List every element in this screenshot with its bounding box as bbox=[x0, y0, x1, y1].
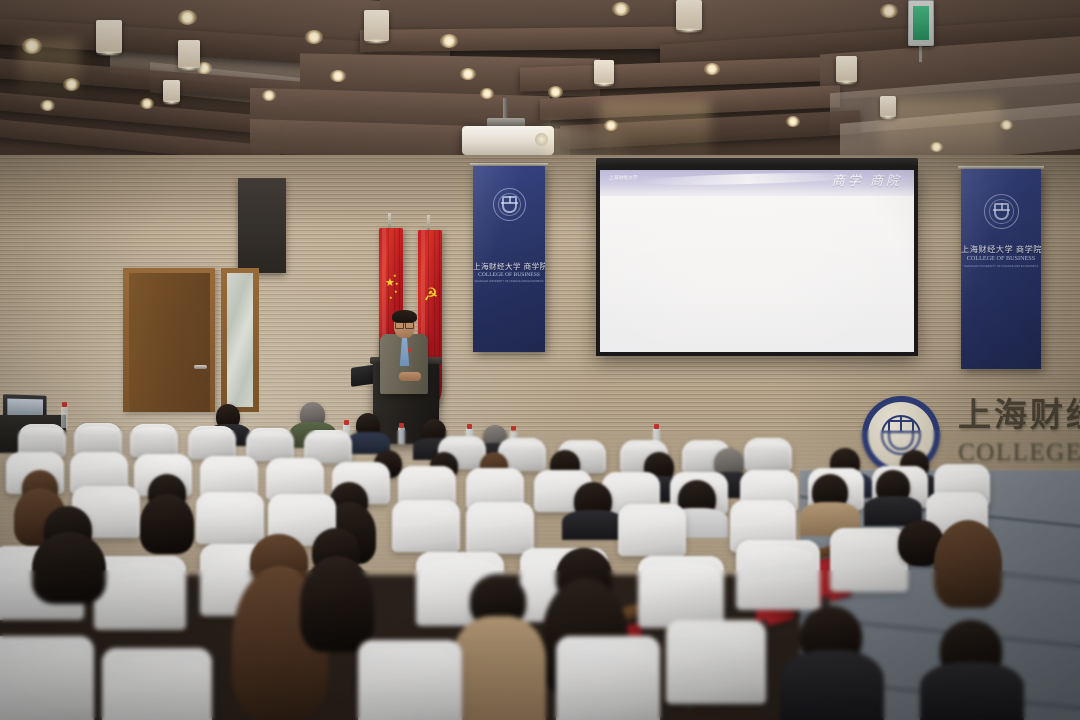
door-side-glass-panel bbox=[221, 268, 259, 412]
flag-star-icon: ★ bbox=[389, 296, 393, 300]
banner-left: 上海财经大学 商学院 COLLEGE OF BUSINESS SHANGHAI … bbox=[473, 166, 545, 352]
seat-back-cover bbox=[130, 424, 178, 457]
exit-sign-stem bbox=[919, 46, 922, 62]
wall-speaker-box bbox=[238, 178, 286, 273]
banner-left-english: COLLEGE OF BUSINESS bbox=[473, 272, 545, 278]
flag-star-icon: ★ bbox=[385, 278, 395, 289]
track-spotlight bbox=[163, 80, 180, 102]
banner-right: 上海财经大学 商学院 COLLEGE OF BUSINESS SHANGHAI … bbox=[961, 169, 1041, 369]
slide-logo-text: 上海财经大学 bbox=[609, 175, 638, 180]
track-spotlight bbox=[96, 20, 122, 53]
slide-calligraphy-text: 商学 商院 bbox=[832, 173, 902, 188]
seat-back-cover bbox=[744, 438, 792, 471]
banner-right-chinese: 上海财经大学 商学院 bbox=[961, 243, 1041, 255]
lecture-hall-photo: 上海财经大学 商学院 COLLEGE OF BUSINESS SHANGHAI … bbox=[0, 0, 1080, 720]
seat-back-cover bbox=[736, 540, 820, 610]
ceiling-downlight bbox=[178, 10, 197, 25]
flag-star-icon: ★ bbox=[393, 274, 397, 278]
college-emblem-icon bbox=[493, 188, 526, 221]
ceiling-projector bbox=[462, 126, 554, 155]
ceiling-downlight bbox=[262, 90, 276, 101]
seat-back-cover bbox=[392, 500, 460, 552]
banner-right-english: COLLEGE OF BUSINESS bbox=[961, 255, 1041, 262]
seat-back-cover bbox=[830, 528, 908, 592]
ceiling-downlight bbox=[63, 78, 80, 91]
lapel-pin-icon bbox=[408, 348, 412, 352]
attendee-hair bbox=[32, 532, 106, 604]
slide-header-band: 上海财经大学 商学 商院 bbox=[600, 170, 914, 196]
seat-back-cover bbox=[102, 648, 212, 720]
ceiling-downlight bbox=[612, 2, 630, 16]
attendee-shoulders bbox=[562, 510, 624, 540]
speaker-hands bbox=[399, 372, 421, 381]
ceiling-downlight bbox=[305, 30, 323, 44]
ceiling-downlight bbox=[22, 38, 42, 54]
attendee-hair bbox=[300, 556, 374, 652]
projection-screen: 上海财经大学 商学 商院 bbox=[596, 166, 918, 356]
ceiling-downlight bbox=[460, 68, 476, 80]
track-spotlight bbox=[880, 96, 896, 117]
track-spotlight bbox=[836, 56, 857, 82]
ceiling-downlight bbox=[140, 98, 154, 109]
ceiling-downlight bbox=[604, 120, 618, 131]
ceiling-downlight bbox=[40, 100, 55, 111]
banner-left-subtitle: SHANGHAI UNIVERSITY OF FINANCE AND ECONO… bbox=[473, 280, 545, 283]
door-handle-icon[interactable] bbox=[194, 365, 207, 369]
attendee-shoulders bbox=[780, 650, 884, 720]
party-emblem-icon: ☭ bbox=[422, 285, 439, 304]
flag-star-icon: ★ bbox=[394, 290, 398, 294]
seat-back-cover bbox=[196, 492, 264, 544]
track-spotlight bbox=[594, 60, 614, 84]
entry-door[interactable] bbox=[123, 268, 215, 412]
ceiling-downlight bbox=[1000, 120, 1013, 130]
wall-sign-english: COLLEGE OF bbox=[958, 440, 1080, 466]
exit-sign bbox=[908, 0, 934, 46]
attendee-hair bbox=[140, 494, 194, 554]
seat-back-cover bbox=[0, 636, 94, 720]
seat-back-cover bbox=[246, 428, 294, 461]
eyeglasses-icon bbox=[395, 322, 414, 327]
ceiling-downlight bbox=[880, 4, 898, 18]
flag-star-icon: ★ bbox=[395, 282, 399, 286]
seat-back-cover bbox=[466, 502, 534, 554]
seat-back-cover bbox=[556, 636, 660, 720]
wall-sign-chinese: 上海财经大学 bbox=[958, 398, 1080, 432]
water-bottle bbox=[398, 427, 405, 444]
seat-back-cover bbox=[666, 620, 766, 704]
college-emblem-icon bbox=[984, 194, 1019, 229]
seat-back-cover bbox=[638, 556, 724, 628]
track-spotlight bbox=[178, 40, 200, 68]
attendee-shoulders bbox=[920, 662, 1024, 720]
track-spotlight bbox=[364, 10, 389, 41]
seat-back-cover bbox=[618, 504, 686, 556]
seat-back-cover bbox=[358, 640, 462, 720]
ceiling-downlight bbox=[330, 70, 346, 82]
track-spotlight bbox=[676, 0, 702, 30]
banner-left-chinese: 上海财经大学 商学院 bbox=[473, 261, 545, 272]
attendee-shoulders bbox=[452, 616, 546, 720]
seat-back-cover bbox=[94, 556, 186, 630]
water-bottle bbox=[61, 406, 68, 428]
seat-back-cover bbox=[188, 426, 236, 459]
ceiling-downlight bbox=[930, 142, 943, 152]
ceiling-downlight bbox=[548, 86, 563, 98]
ceiling-downlight bbox=[704, 63, 720, 75]
attendee-hair bbox=[934, 520, 1002, 608]
ceiling-downlight bbox=[440, 34, 458, 48]
banner-right-subtitle: SHANGHAI UNIVERSITY OF FINANCE AND ECONO… bbox=[961, 264, 1041, 268]
ceiling-downlight bbox=[480, 88, 494, 99]
slide-body bbox=[600, 196, 914, 352]
ceiling-downlight bbox=[786, 116, 800, 127]
